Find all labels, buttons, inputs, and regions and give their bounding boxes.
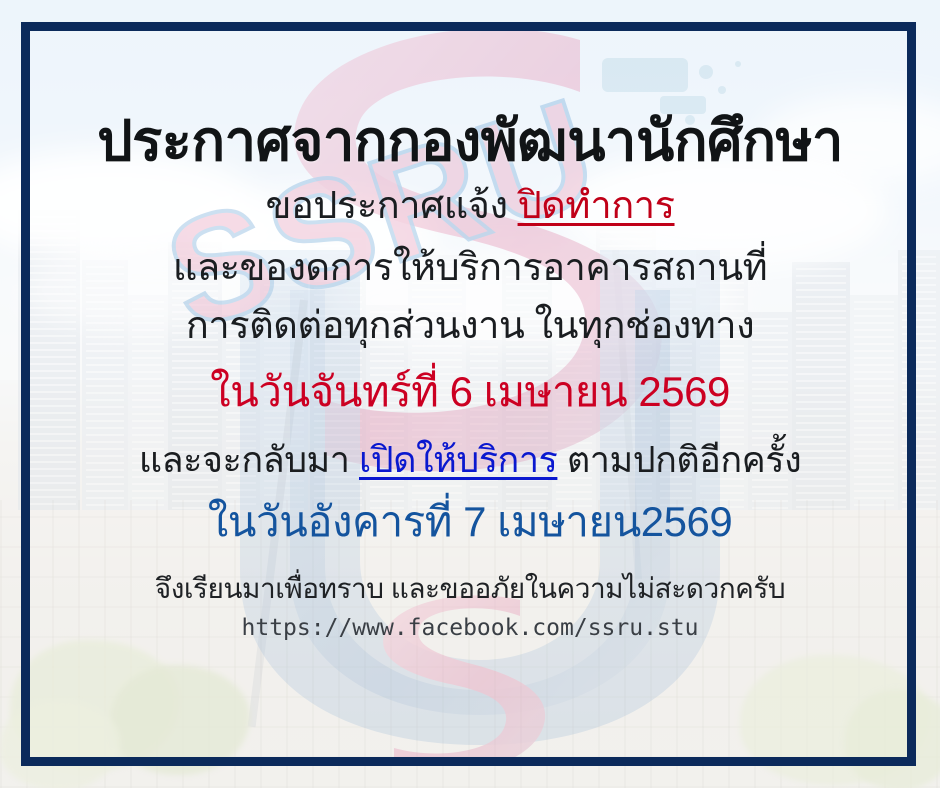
closure-notice-line: ขอประกาศแจ้ง ปิดทำการ xyxy=(0,187,940,227)
announcement-poster: SSRU ประกาศจากกองพัฒนานักศึกษา ขอประกาศแ… xyxy=(0,0,940,788)
reopen-date: ในวันอังคารที่ 7 เมษายน2569 xyxy=(0,500,940,544)
all-channels-line: การติดต่อทุกส่วนงาน ในทุกช่องทาง xyxy=(0,307,940,347)
service-suspension-line: และของดการให้บริการอาคารสถานที่ xyxy=(0,249,940,289)
closed-date: ในวันจันทร์ที่ 6 เมษายน 2569 xyxy=(0,370,940,414)
facebook-url[interactable]: https://www.facebook.com/ssru.stu xyxy=(0,616,940,640)
reopen-notice-line: และจะกลับมา เปิดให้บริการ ตามปกติอีกครั้… xyxy=(0,441,940,479)
closure-notice-prefix: ขอประกาศแจ้ง xyxy=(265,185,517,227)
reopen-prefix: และจะกลับมา xyxy=(139,439,359,480)
closing-remark: จึงเรียนมาเพื่อทราบ และขออภัยในความไม่สะ… xyxy=(0,574,940,603)
reopen-suffix: ตามปกติอีกครั้ง xyxy=(557,439,801,480)
announcement-title: ประกาศจากกองพัฒนานักศึกษา xyxy=(0,112,940,171)
closed-status-highlight: ปิดทำการ xyxy=(518,185,675,227)
open-status-highlight: เปิดให้บริการ xyxy=(359,439,557,480)
announcement-content: ประกาศจากกองพัฒนานักศึกษา ขอประกาศแจ้ง ป… xyxy=(0,0,940,788)
